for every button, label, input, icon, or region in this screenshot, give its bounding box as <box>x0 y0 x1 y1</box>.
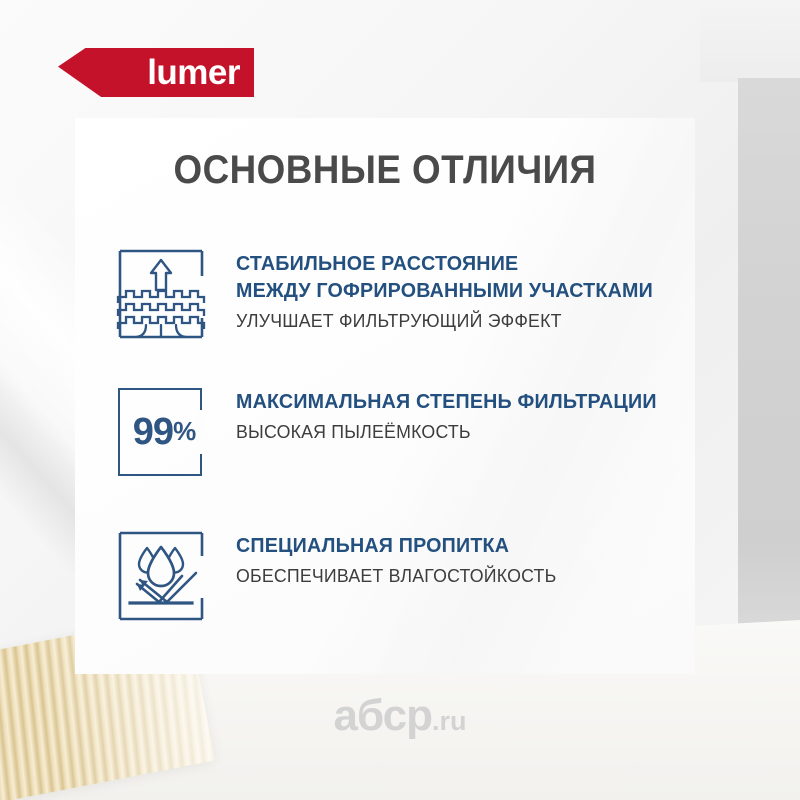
watermark-text: абср <box>334 691 432 740</box>
percent-value: 99 <box>133 411 173 454</box>
percent-icon-label: 99% <box>117 384 211 480</box>
background-right-gray-band <box>738 78 800 658</box>
water-repellent-icon <box>114 528 208 624</box>
watermark-suffix: .ru <box>432 706 467 736</box>
feature-row-filtration: 99% МАКСИМАЛЬНАЯ СТЕПЕНЬ ФИЛЬТРАЦИИ ВЫСО… <box>114 384 674 480</box>
product-infographic-canvas: lumer ОСНОВНЫЕ ОТЛИЧИЯ <box>0 0 800 800</box>
feature-headline-line2: МЕЖДУ ГОФРИРОВАННЫМИ УЧАСТКАМИ <box>236 277 653 304</box>
feature-row-corrugation: СТАБИЛЬНОЕ РАССТОЯНИЕ МЕЖДУ ГОФРИРОВАННЫ… <box>114 246 670 342</box>
feature-text-corrugation: СТАБИЛЬНОЕ РАССТОЯНИЕ МЕЖДУ ГОФРИРОВАННЫ… <box>236 246 670 334</box>
percent-unit: % <box>173 416 195 447</box>
feature-headline-line1: СПЕЦИАЛЬНАЯ ПРОПИТКА <box>236 532 556 559</box>
background-top-right-panel <box>700 0 800 82</box>
logo-wordmark-text: lumer <box>147 55 240 90</box>
percent-99-icon: 99% <box>114 384 208 480</box>
feature-subtext: УЛУЧШАЕТ ФИЛЬТРУЮЩИЙ ЭФФЕКТ <box>236 309 653 334</box>
feature-row-impregnation: СПЕЦИАЛЬНАЯ ПРОПИТКА ОБЕСПЕЧИВАЕТ ВЛАГОС… <box>114 528 570 624</box>
corrugation-spacing-icon <box>114 246 208 342</box>
feature-text-filtration: МАКСИМАЛЬНАЯ СТЕПЕНЬ ФИЛЬТРАЦИИ ВЫСОКАЯ … <box>236 384 674 445</box>
lumer-logo[interactable]: lumer <box>58 48 254 97</box>
feature-text-impregnation: СПЕЦИАЛЬНАЯ ПРОПИТКА ОБЕСПЕЧИВАЕТ ВЛАГОС… <box>236 528 570 589</box>
feature-subtext: ОБЕСПЕЧИВАЕТ ВЛАГОСТОЙКОСТЬ <box>236 564 556 589</box>
feature-headline-line1: СТАБИЛЬНОЕ РАССТОЯНИЕ <box>236 250 653 277</box>
abcp-watermark: абср.ru <box>0 694 800 738</box>
feature-subtext: ВЫСОКАЯ ПЫЛЕЁМКОСТЬ <box>236 420 657 445</box>
logo-wordmark: lumer <box>58 48 254 97</box>
feature-headline-line1: МАКСИМАЛЬНАЯ СТЕПЕНЬ ФИЛЬТРАЦИИ <box>236 388 657 415</box>
page-title: ОСНОВНЫЕ ОТЛИЧИЯ <box>100 148 670 193</box>
